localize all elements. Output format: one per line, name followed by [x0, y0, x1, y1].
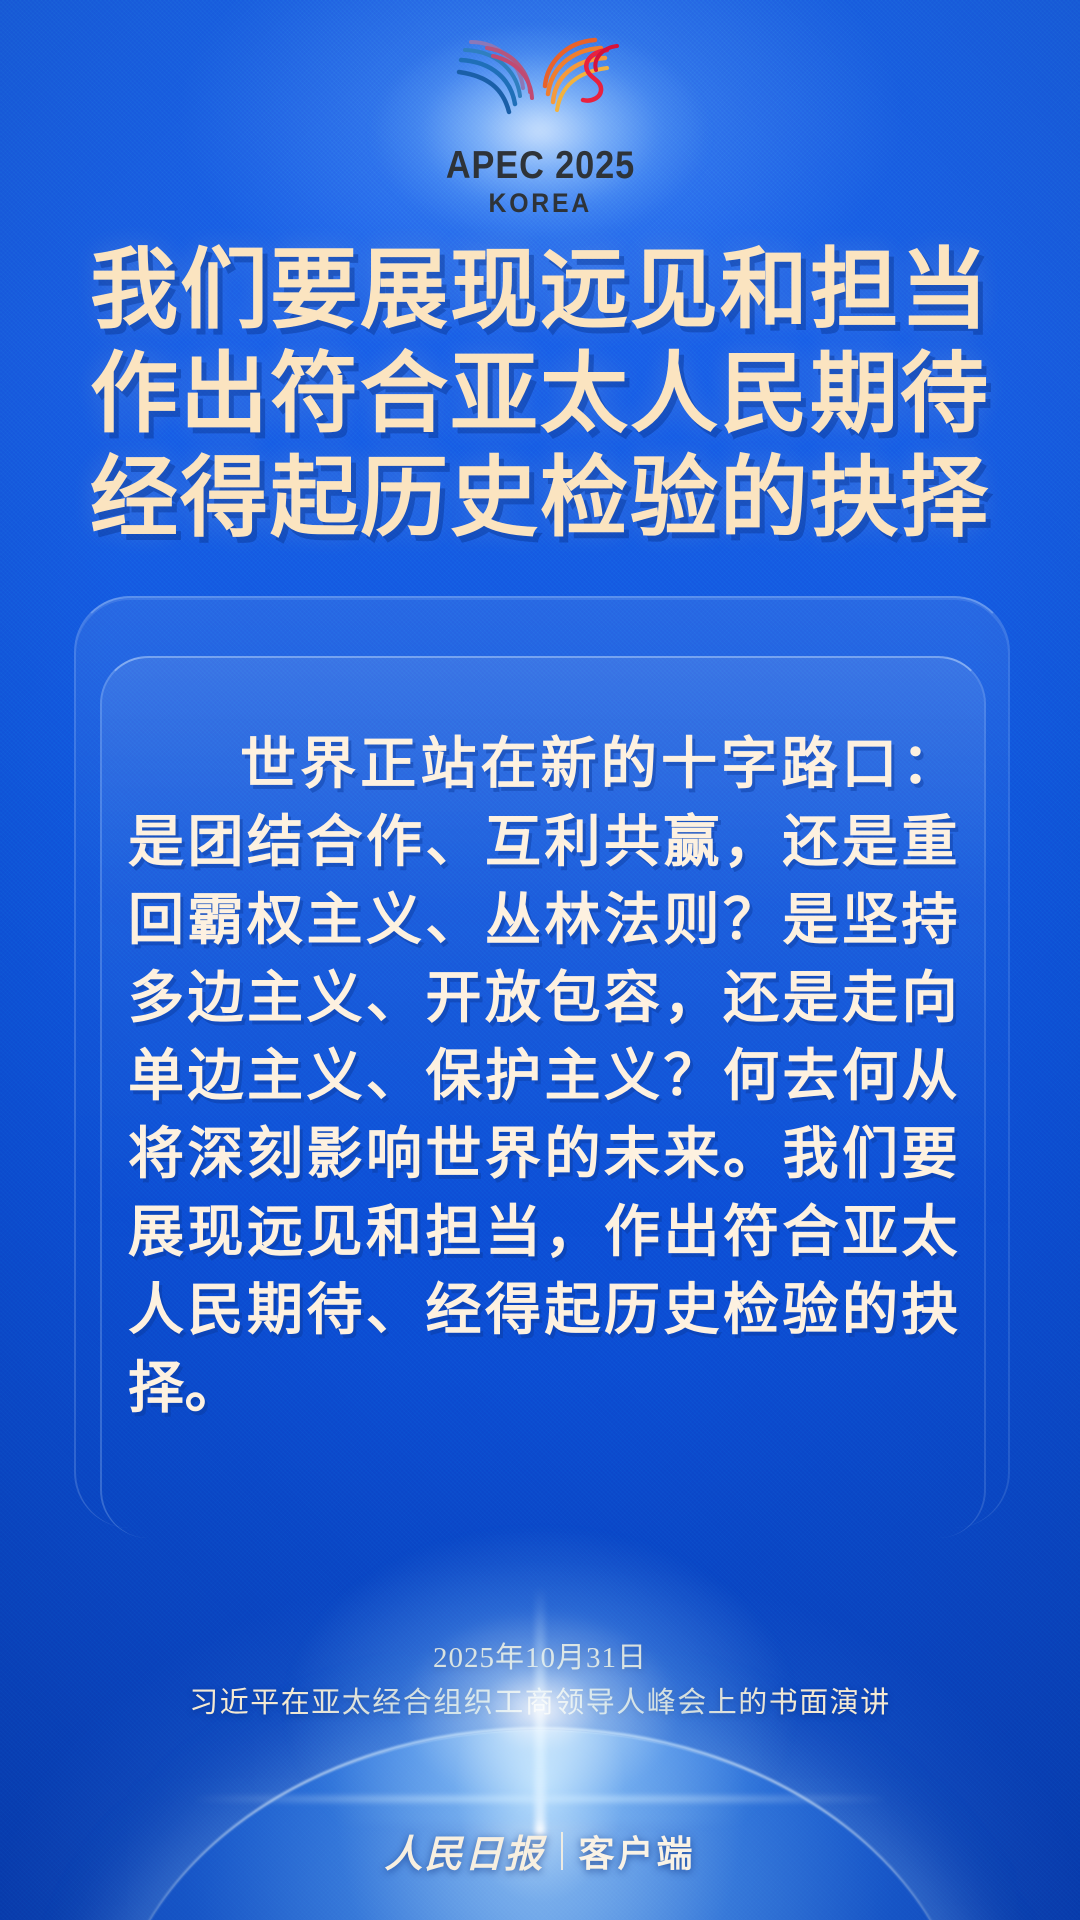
- headline-line-3: 经得起历史检验的抉择: [0, 446, 1080, 550]
- logo-subtitle: KOREA: [488, 190, 592, 217]
- apec-logo-block: APEC 2025 KOREA: [0, 26, 1080, 217]
- footer-branding: 人民日报 客户端: [0, 1823, 1080, 1878]
- attribution-date: 2025年10月31日: [0, 1638, 1080, 1678]
- footer-product-name: 客户端: [579, 1825, 696, 1877]
- headline: 我们要展现远见和担当 作出符合亚太人民期待 经得起历史检验的抉择: [0, 238, 1080, 550]
- quote-body-text: 世界正站在新的十字路口：是团结合作、互利共赢，还是重回霸权主义、丛林法则？是坚持…: [128, 726, 958, 1428]
- headline-line-2: 作出符合亚太人民期待: [0, 342, 1080, 446]
- footer-divider: [561, 1832, 563, 1870]
- logo-title: APEC 2025: [445, 146, 634, 185]
- headline-line-1: 我们要展现远见和担当: [0, 238, 1080, 342]
- attribution-source: 习近平在亚太经合组织工商领导人峰会上的书面演讲: [0, 1682, 1080, 1724]
- footer-brand-logo: 人民日报: [384, 1823, 544, 1878]
- apec-butterfly-face-mark: [435, 26, 645, 144]
- attribution-block: 2025年10月31日 习近平在亚太经合组织工商领导人峰会上的书面演讲: [0, 1638, 1080, 1724]
